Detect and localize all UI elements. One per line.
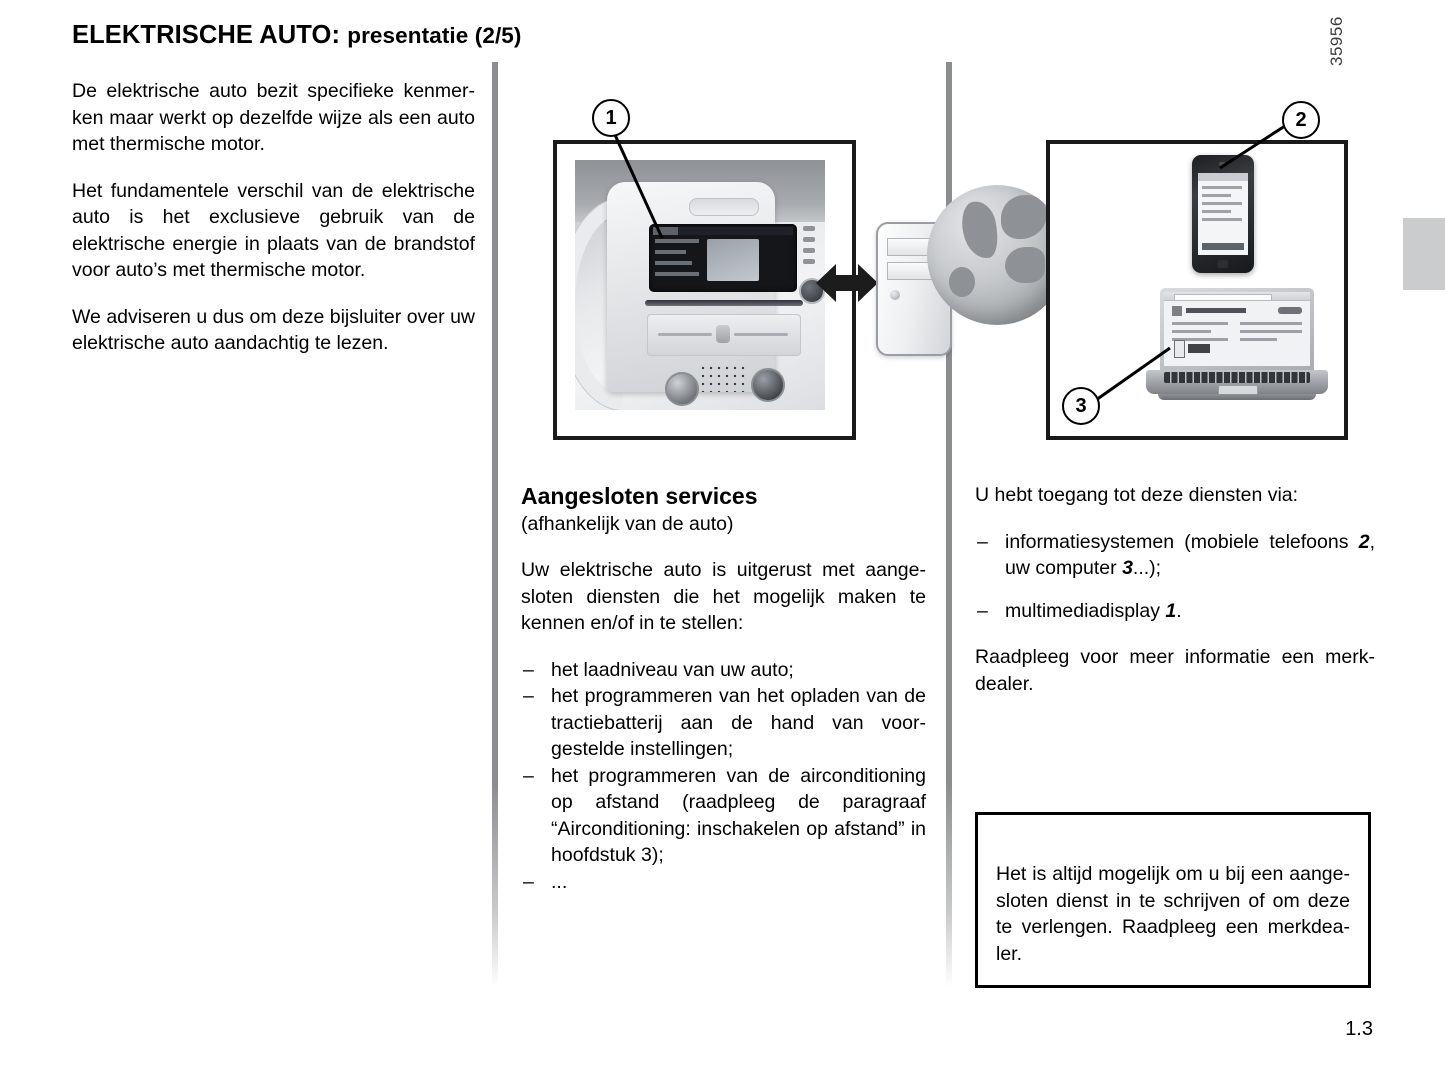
access-closing: Raadpleeg voor meer informatie een merk­…	[975, 644, 1375, 697]
access-list: – informatiesystemen (mobiele telefoons …	[975, 529, 1375, 625]
screen-side-buttons	[803, 226, 815, 272]
callout-3: 3	[1062, 387, 1100, 425]
page-number: 1.3	[1345, 1018, 1373, 1041]
bullet-dash: –	[523, 657, 534, 684]
services-intro: Uw elektrische auto is uitgerust met aan…	[521, 557, 926, 637]
callout-2: 2	[1282, 101, 1320, 139]
bidirectional-arrow-icon-car-server	[816, 258, 878, 308]
note-box: Het is altijd mogelijk om u bij een aang…	[975, 812, 1371, 988]
air-vents	[647, 314, 801, 356]
bullet-dash: –	[977, 598, 988, 625]
bullet-dash: –	[523, 869, 534, 896]
list-item: – het programmeren van het opladen van d…	[521, 683, 926, 763]
page-title-sub: presentatie (2/5)	[347, 23, 521, 48]
list-item-text: het programmeren van het opladen van de …	[551, 685, 926, 760]
chapter-edge-tab	[1403, 218, 1445, 290]
bullet-dash: –	[977, 529, 988, 556]
right-column: U hebt toegang tot deze diensten via: – …	[975, 482, 1375, 717]
section-heading: Aangesloten services	[521, 482, 926, 511]
section-subheading: (afhankelijk van de auto)	[521, 511, 926, 537]
defrost-vent	[689, 198, 759, 216]
list-item-text: informatiesystemen (mobiele telefoons 2,…	[1005, 531, 1375, 580]
intro-paragraph-1: De elektrische auto bezit specifieke ken…	[72, 78, 475, 158]
services-list: – het laadniveau van uw auto; – het prog…	[521, 657, 926, 896]
list-item-text: het programmeren van de airconditio­ning…	[551, 765, 926, 867]
console-trim	[645, 300, 803, 306]
note-box-text: Het is altijd mogelijk om u bij een aang…	[996, 861, 1350, 967]
list-item-text: ...	[551, 871, 567, 893]
bullet-dash: –	[523, 763, 534, 790]
middle-column: Aangesloten services (afhankelijk van de…	[521, 482, 926, 895]
bullet-dash: –	[523, 683, 534, 710]
column-divider-left	[492, 62, 498, 987]
climate-dials	[659, 364, 789, 410]
list-item-text: multimediadisplay 1.	[1005, 600, 1182, 622]
figure-code: 35956	[1327, 16, 1347, 66]
list-item: – ...	[521, 869, 926, 896]
intro-paragraph-3: We adviseren u dus om deze bijsluiter ov…	[72, 304, 475, 357]
ref-number: 1	[1165, 600, 1176, 622]
list-item: – het programmeren van de airconditio­ni…	[521, 763, 926, 869]
leader-line-3	[1090, 340, 1180, 410]
list-item: – multimediadisplay 1.	[975, 598, 1375, 625]
ref-number: 2	[1359, 531, 1370, 553]
ref-number: 3	[1122, 557, 1133, 579]
callout-1: 1	[592, 99, 630, 137]
intro-paragraph-2: Het fundamentele verschil van de elektri…	[72, 178, 475, 284]
page-title: ELEKTRISCHE AUTO: presentatie (2/5)	[72, 21, 522, 50]
manual-page: ELEKTRISCHE AUTO: presentatie (2/5) De e…	[0, 0, 1445, 1070]
access-intro: U hebt toegang tot deze diensten via:	[975, 482, 1375, 509]
list-item: – informatiesystemen (mobiele telefoons …	[975, 529, 1375, 582]
list-item: – het laadniveau van uw auto;	[521, 657, 926, 684]
list-item-text: het laadniveau van uw auto;	[551, 659, 794, 681]
page-title-main: ELEKTRISCHE AUTO:	[72, 21, 340, 49]
left-column: De elektrische auto bezit specifieke ken…	[72, 78, 475, 357]
